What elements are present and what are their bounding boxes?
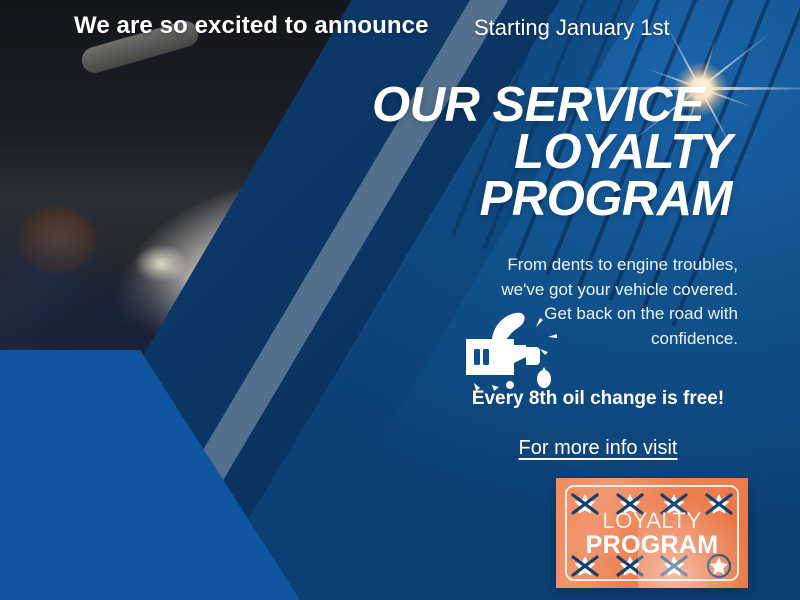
page-title: OUR SERVICE LOYALTY PROGRAM [372, 82, 732, 223]
punched-stamp [570, 554, 600, 578]
cta-link-label: For more info visit [519, 437, 678, 459]
card-glow [638, 478, 748, 588]
headline-line-3: PROGRAM [372, 176, 732, 223]
offer-text: Every 8th oil change is free! [458, 388, 738, 410]
kicker-text: We are so excited to announce [74, 12, 429, 40]
start-date-text: Starting January 1st [474, 15, 670, 41]
headline-line-2: LOYALTY [372, 129, 732, 176]
headline-line-1: OUR SERVICE [372, 82, 732, 129]
loyalty-card: LOYALTY PROGRAM [556, 478, 748, 588]
promo-poster: We are so excited to announce Starting J… [0, 0, 800, 600]
oil-can-pour-icon [452, 305, 562, 395]
cta-link[interactable]: For more info visit [458, 437, 738, 460]
